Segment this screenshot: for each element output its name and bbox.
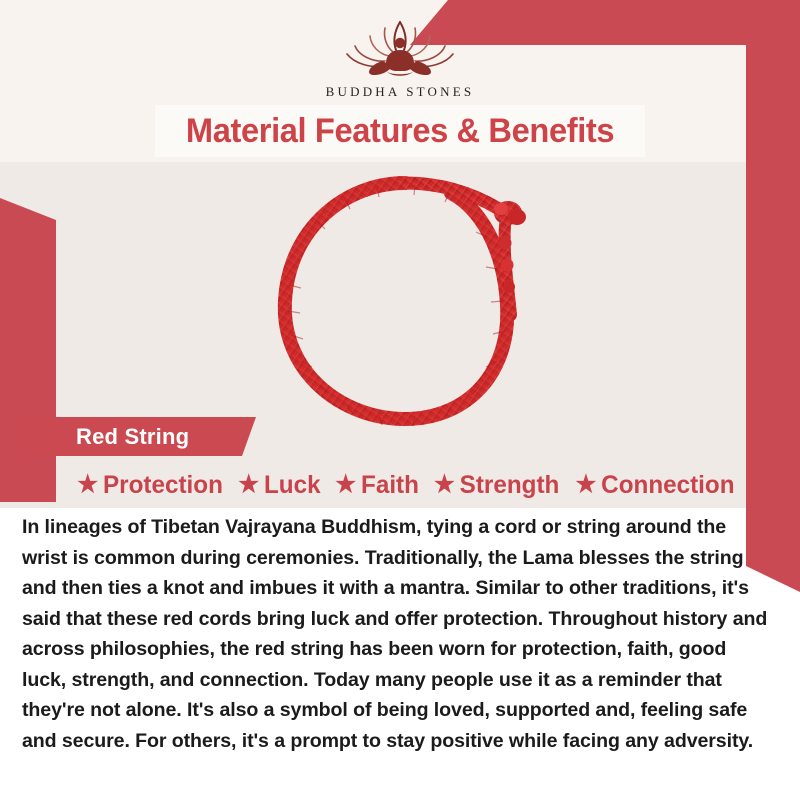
star-icon: ★	[576, 473, 597, 497]
decorative-red-shape-left	[0, 198, 56, 502]
lotus-meditation-icon	[325, 16, 475, 82]
star-icon: ★	[77, 473, 98, 497]
benefit-item: ★ Faith	[330, 471, 423, 500]
benefit-label: Strength	[460, 471, 560, 500]
benefit-item: ★ Strength	[429, 471, 564, 500]
benefit-item: ★ Luck	[233, 471, 325, 500]
red-braided-string-bracelet	[255, 165, 555, 435]
star-icon: ★	[434, 473, 455, 497]
benefit-label: Connection	[601, 471, 734, 500]
benefits-list: ★ Protection ★ Luck ★ Faith ★ Strength ★…	[56, 466, 756, 504]
benefit-item: ★ Protection	[72, 471, 227, 500]
brand-logo: BUDDHA STONES	[0, 16, 800, 108]
star-icon: ★	[335, 473, 356, 497]
benefit-label: Faith	[361, 471, 419, 500]
title-banner: Material Features & Benefits	[155, 105, 645, 157]
page-title: Material Features & Benefits	[186, 112, 614, 151]
product-label: Red String	[76, 424, 189, 450]
star-icon: ★	[238, 473, 259, 497]
infographic-page: BUDDHA STONES Material Features & Benefi…	[0, 0, 800, 800]
product-label-banner: Red String	[20, 417, 256, 456]
benefit-item: ★ Connection	[571, 471, 740, 500]
benefit-label: Luck	[264, 471, 321, 500]
benefit-label: Protection	[103, 471, 223, 500]
description-paragraph: In lineages of Tibetan Vajrayana Buddhis…	[22, 512, 774, 756]
brand-name: BUDDHA STONES	[326, 84, 475, 100]
